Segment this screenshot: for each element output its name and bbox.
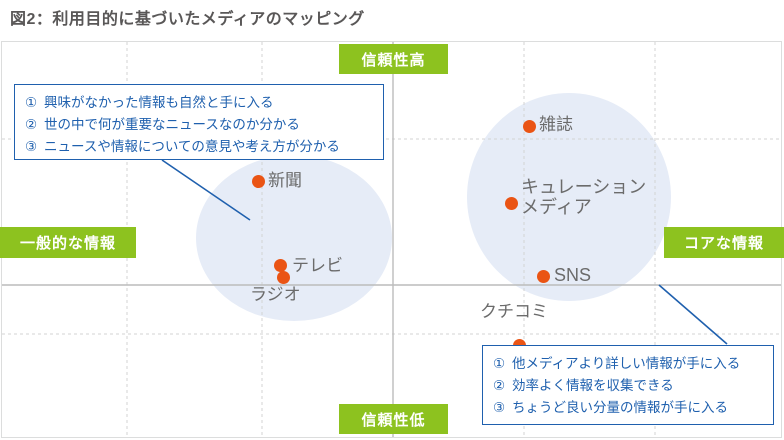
callout-left-num-2: ② bbox=[25, 114, 44, 136]
callout-right-num-3: ③ bbox=[493, 397, 512, 419]
data-point-zasshi[interactable] bbox=[523, 120, 536, 133]
data-label-curation-line2: メディア bbox=[521, 197, 592, 217]
data-label-terebi: テレビ bbox=[292, 256, 343, 276]
data-label-curation-line1: キュレーション bbox=[521, 177, 646, 197]
callout-right-text-2: 効率よく情報を収集できる bbox=[512, 378, 674, 393]
callout-right-item-1: ①他メディアより詳しい情報が手に入る bbox=[493, 353, 762, 375]
callout-core-media: ①他メディアより詳しい情報が手に入る ②効率よく情報を収集できる ③ちょうど良い… bbox=[482, 345, 774, 425]
axis-label-top: 信頼性高 bbox=[339, 44, 448, 74]
callout-right-item-3: ③ちょうど良い分量の情報が手に入る bbox=[493, 397, 762, 419]
figure-title: 図2：利用目的に基づいたメディアのマッピング bbox=[10, 5, 365, 29]
figure-root: 図2：利用目的に基づいたメディアのマッピング bbox=[0, 0, 784, 440]
callout-left-item-3: ③ニュースや情報についての意見や考え方が分かる bbox=[25, 136, 372, 158]
data-point-terebi[interactable] bbox=[274, 259, 287, 272]
callout-right-text-3: ちょうど良い分量の情報が手に入る bbox=[512, 400, 728, 415]
data-label-kuchikomi: クチコミ bbox=[480, 302, 548, 322]
data-label-shimbun: 新聞 bbox=[268, 171, 302, 191]
data-point-shimbun[interactable] bbox=[252, 175, 265, 188]
callout-left-num-3: ③ bbox=[25, 136, 44, 158]
data-label-curation: キュレーション メディア bbox=[521, 177, 646, 217]
callout-left-num-1: ① bbox=[25, 92, 44, 114]
axis-label-right: コアな情報 bbox=[664, 227, 784, 258]
callout-left-text-1: 興味がなかった情報も自然と手に入る bbox=[44, 95, 274, 110]
callout-left-item-1: ①興味がなかった情報も自然と手に入る bbox=[25, 92, 372, 114]
callout-left-text-3: ニュースや情報についての意見や考え方が分かる bbox=[44, 139, 340, 154]
callout-right-num-1: ① bbox=[493, 353, 512, 375]
data-label-rajio: ラジオ bbox=[250, 285, 301, 305]
data-point-curation[interactable] bbox=[505, 197, 518, 210]
axis-label-left: 一般的な情報 bbox=[0, 227, 136, 258]
callout-right-num-2: ② bbox=[493, 375, 512, 397]
callout-left-item-2: ②世の中で何が重要なニュースなのか分かる bbox=[25, 114, 372, 136]
data-point-rajio[interactable] bbox=[277, 271, 290, 284]
data-point-sns[interactable] bbox=[537, 270, 550, 283]
leader-line-right bbox=[659, 285, 727, 344]
axis-label-bottom: 信頼性低 bbox=[339, 404, 448, 434]
callout-left-text-2: 世の中で何が重要なニュースなのか分かる bbox=[44, 117, 300, 132]
data-label-sns: SNS bbox=[554, 265, 591, 286]
callout-right-text-1: 他メディアより詳しい情報が手に入る bbox=[512, 356, 740, 371]
data-label-zasshi: 雑誌 bbox=[539, 115, 573, 135]
callout-right-item-2: ②効率よく情報を収集できる bbox=[493, 375, 762, 397]
callout-general-media: ①興味がなかった情報も自然と手に入る ②世の中で何が重要なニュースなのか分かる … bbox=[14, 84, 384, 160]
